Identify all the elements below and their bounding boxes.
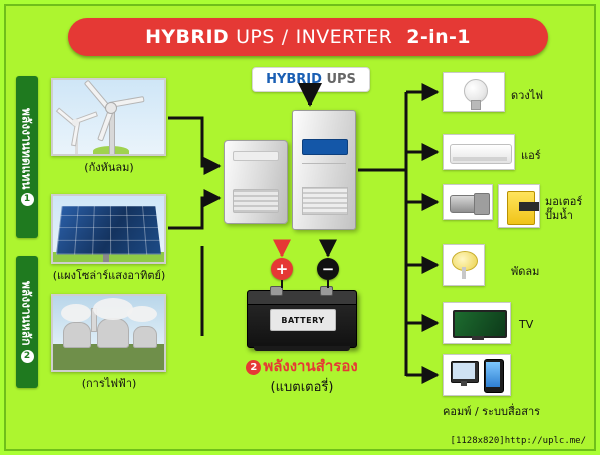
title-part4: 2-in-1 [406,26,471,48]
power-plant-icon-tower-1 [63,322,91,348]
load-box-aircon [443,134,515,170]
load-box-tv [443,302,511,344]
wind-turbine-icon-hub [105,102,117,114]
source-caption-wind: (กังหันลม) [44,158,174,176]
pump-controller-icon-screen [519,202,539,211]
ups-display-screen [302,139,348,155]
water-pump-motor-icon-head [474,193,490,215]
title-part1: HYBRID [145,26,229,48]
battery-label: BATTERY [270,309,336,331]
source-caption-powerplant: (การไฟฟ้า) [44,374,174,392]
solar-panel-icon [56,206,161,254]
page-title: HYBRID UPS / INVERTER 2-in-1 [145,26,471,48]
credit-text: [1128x820]http://uplc.me/ [451,436,586,446]
title-separator: / [282,26,289,48]
side-label-renewable-number: 1 [21,193,34,206]
source-photo-wind [51,78,166,156]
battery-base [254,346,350,351]
power-plant-icon-smoke-1 [61,304,91,322]
wind-turbine-icon-small-hub [72,119,79,126]
load-label-fan: พัดลม [511,262,539,280]
hybrid-ups-badge-part2: UPS [326,72,355,87]
battery-terminal-right [320,286,333,296]
load-label-aircon: แอร์ [521,146,541,164]
power-plant-icon-tower-2 [97,318,129,348]
battery-plus-sign: + [276,260,289,278]
solar-panel-icon-cells [56,206,161,254]
diagram-frame: HYBRID UPS / INVERTER 2-in-1 พลังงานทดแท… [4,4,596,451]
ups-cabinet [292,110,356,230]
load-label-motor-2: ปั๊มน้ำ [545,206,573,224]
computer-phone-icon-screen [453,363,475,379]
fan-icon-stand [462,267,466,279]
air-conditioner-icon [450,144,512,164]
ups-cabinet-grille [302,187,348,215]
battery-caption-number: 2 [246,360,261,375]
load-label-computer: คอมพ์ / ระบบสื่อสาร [443,402,540,420]
inverter-vent [233,189,279,213]
load-label-light: ดวงไฟ [511,86,543,104]
light-bulb-icon-base [471,100,481,110]
diagram-root: HYBRID UPS / INVERTER 2-in-1 พลังงานทดแท… [0,0,600,455]
title-part3: INVERTER [296,26,393,48]
load-box-controller [498,184,540,228]
computer-phone-icon-stand [461,381,467,386]
side-label-grid-number: 2 [21,350,34,363]
hybrid-ups-badge: HYBRID UPS [252,67,370,92]
battery-minus-sign: − [322,260,335,278]
pump-controller-icon [507,191,535,225]
load-box-light [443,72,505,112]
power-plant-icon-smoke-3 [127,306,157,322]
battery-unit: BATTERY [247,290,357,348]
side-label-renewable: พลังงานทดแทน 1 [16,76,38,238]
inverter-slot [233,151,279,161]
battery-positive-terminal: + [271,258,293,280]
side-label-grid-text: พลังงานหลัก [18,281,37,345]
computer-phone-icon-phone-screen [486,362,500,387]
source-photo-solar [51,194,166,264]
load-box-computer [443,354,511,396]
power-plant-icon-tower-3 [133,326,157,348]
source-photo-powerplant [51,294,166,372]
television-icon-stand [472,336,484,340]
title-banner: HYBRID UPS / INVERTER 2-in-1 [68,18,548,56]
source-caption-solar: (แผงโซล่าร์แสงอาทิตย์) [26,266,192,284]
inverter-unit [224,140,288,224]
battery-top [248,291,356,305]
title-part2: UPS [236,26,275,48]
battery-caption-secondary: (แบตเตอรี่) [202,376,402,397]
battery-terminal-left [270,286,283,296]
load-box-fan [443,244,485,286]
load-box-motor [443,184,493,220]
battery-caption-text: พลังงานสำรอง [263,357,357,375]
load-label-tv: TV [519,318,533,331]
side-label-renewable-text: พลังงานทดแทน [18,108,37,189]
battery-negative-terminal: − [317,258,339,280]
hybrid-ups-badge-part1: HYBRID [266,72,322,87]
ups-cabinet-seam [302,163,346,164]
television-icon [453,310,507,338]
battery-caption: 2พลังงานสำรอง [202,354,402,378]
air-conditioner-icon-vent [453,157,507,161]
